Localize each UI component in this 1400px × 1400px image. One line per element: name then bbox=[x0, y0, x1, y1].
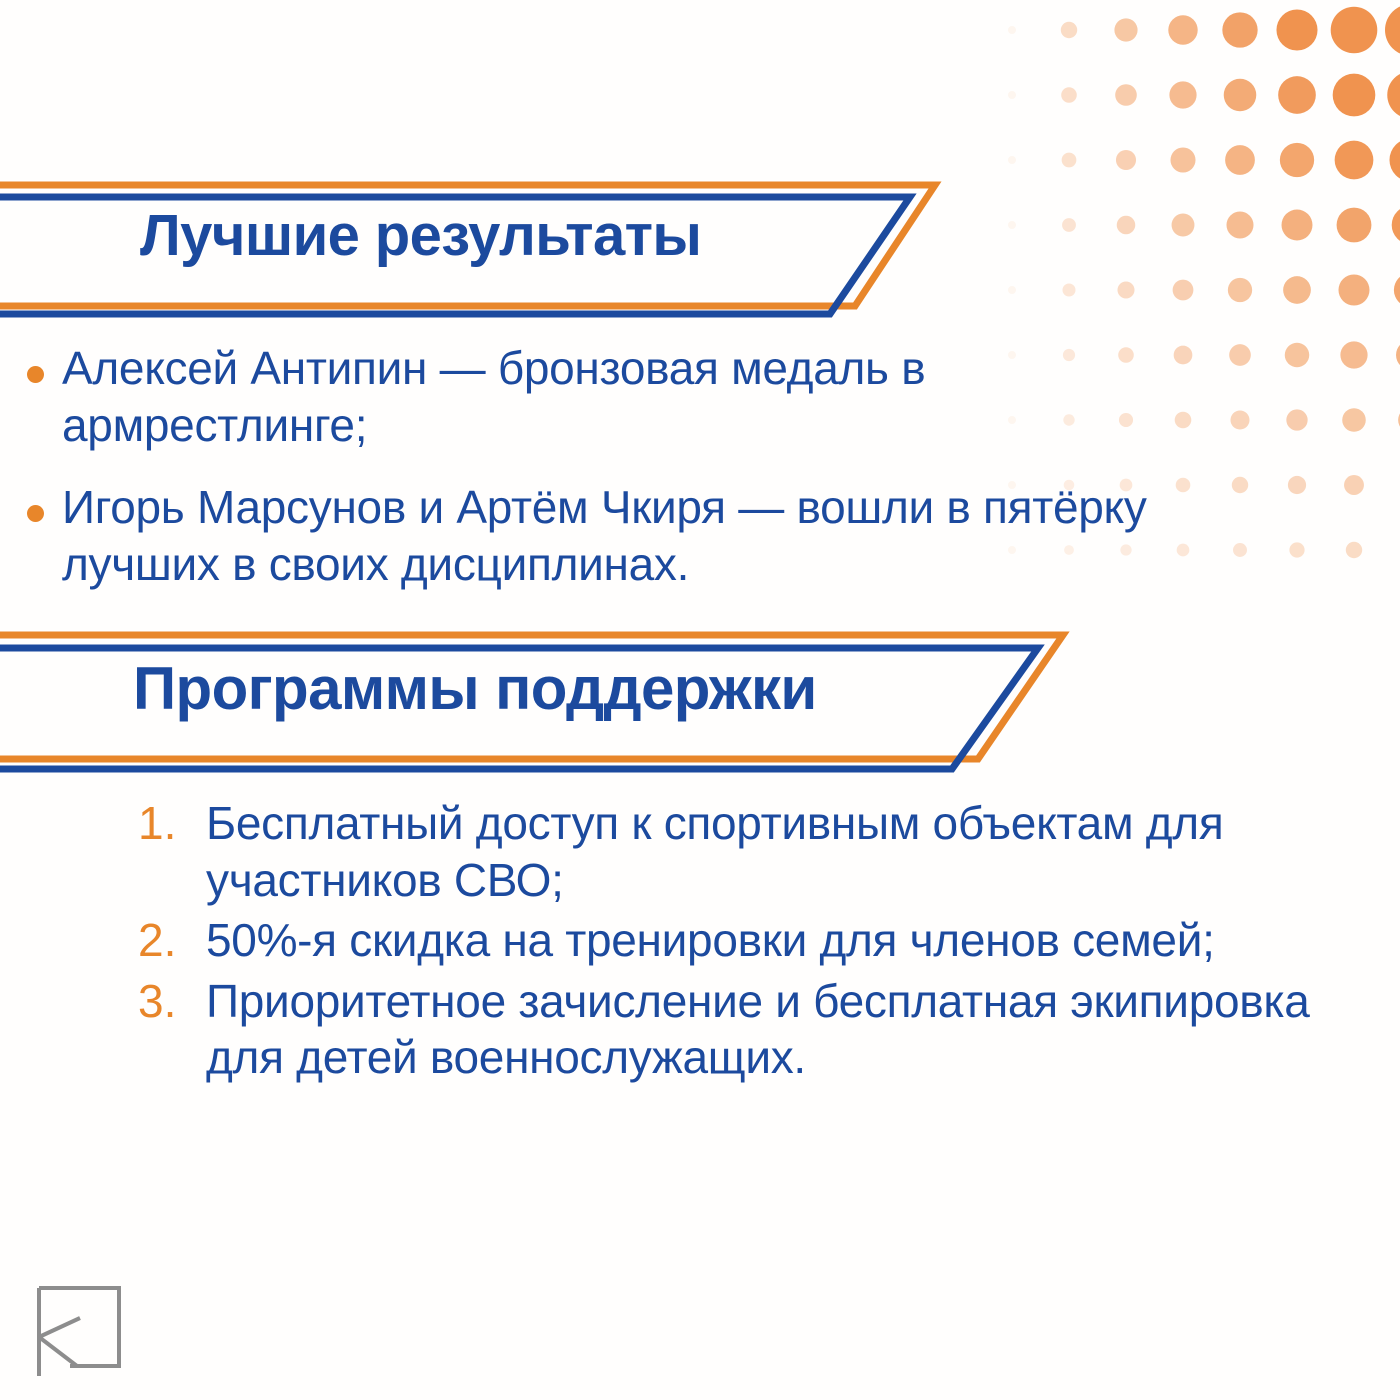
programs-list: 1. Бесплатный доступ к спортивным объект… bbox=[0, 795, 1330, 1090]
decorative-dot bbox=[1342, 408, 1366, 432]
list-item-number: 3. bbox=[0, 973, 206, 1030]
decorative-dot bbox=[1172, 214, 1195, 237]
decorative-dot bbox=[1062, 283, 1075, 296]
decorative-dot bbox=[1396, 340, 1400, 370]
bullet-marker bbox=[0, 340, 62, 383]
decorative-dot bbox=[1173, 280, 1194, 301]
logo-k-lower-arm bbox=[39, 1337, 77, 1366]
decorative-dot bbox=[1222, 12, 1257, 47]
decorative-dot bbox=[1225, 145, 1255, 175]
list-item-text: 50%-я скидка на тренировки для членов се… bbox=[206, 912, 1215, 969]
decorative-dot bbox=[1346, 542, 1362, 558]
list-item: 1. Бесплатный доступ к спортивным объект… bbox=[0, 795, 1330, 908]
decorative-dot bbox=[1061, 87, 1077, 103]
decorative-dot bbox=[1117, 216, 1136, 235]
decorative-dot bbox=[1392, 206, 1400, 245]
list-item: 2. 50%-я скидка на тренировки для членов… bbox=[0, 912, 1330, 969]
bullet-dot-icon bbox=[27, 505, 44, 522]
section-title-programs: Программы поддержки bbox=[133, 654, 817, 723]
list-item: Игорь Марсунов и Артём Чкиря — вошли в п… bbox=[0, 479, 1330, 592]
decorative-dot bbox=[1387, 71, 1400, 118]
banner-best-results: Лучшие результаты bbox=[0, 178, 960, 323]
list-item: Алексей Антипин — бронзовая медаль в арм… bbox=[0, 340, 1330, 453]
decorative-dot bbox=[1114, 18, 1137, 41]
list-item-text: Игорь Марсунов и Артём Чкиря — вошли в п… bbox=[62, 479, 1182, 592]
decorative-dot bbox=[1008, 26, 1016, 34]
logo-k-upper-arm bbox=[39, 1318, 80, 1337]
decorative-dot bbox=[1062, 218, 1076, 232]
decorative-dot bbox=[1169, 81, 1196, 108]
decorative-dot bbox=[1170, 147, 1195, 172]
decorative-dot bbox=[1061, 22, 1077, 38]
decorative-dot bbox=[1116, 150, 1136, 170]
decorative-dot bbox=[1333, 74, 1376, 117]
list-item-text: Приоритетное зачисление и бесплатная эки… bbox=[206, 973, 1330, 1086]
list-item-number: 1. bbox=[0, 795, 206, 852]
decorative-dot bbox=[1008, 156, 1016, 164]
decorative-dot bbox=[1117, 281, 1134, 298]
decorative-dot bbox=[1168, 15, 1197, 44]
k-square-logo bbox=[30, 1280, 130, 1380]
decorative-dot bbox=[1282, 210, 1313, 241]
bullet-dot-icon bbox=[27, 366, 44, 383]
decorative-dot bbox=[1278, 76, 1316, 114]
decorative-dot bbox=[1280, 143, 1314, 177]
list-item-text: Алексей Антипин — бронзовая медаль в арм… bbox=[62, 340, 1182, 453]
decorative-dot bbox=[1385, 4, 1400, 56]
decorative-dot bbox=[1115, 84, 1137, 106]
banner-support-programs: Программы поддержки bbox=[0, 628, 1090, 783]
bullet-marker bbox=[0, 479, 62, 522]
decorative-dot bbox=[1338, 274, 1369, 305]
decorative-dot bbox=[1344, 475, 1364, 495]
decorative-dot bbox=[1331, 7, 1378, 54]
decorative-dot bbox=[1335, 141, 1374, 180]
results-list: Алексей Антипин — бронзовая медаль в арм… bbox=[0, 340, 1330, 618]
decorative-dot bbox=[1062, 153, 1077, 168]
list-item: 3. Приоритетное зачисление и бесплатная … bbox=[0, 973, 1330, 1086]
list-item-number: 2. bbox=[0, 912, 206, 969]
decorative-dot bbox=[1228, 278, 1252, 302]
decorative-dot bbox=[1008, 91, 1016, 99]
section-title-results: Лучшие результаты bbox=[140, 202, 701, 269]
logo-square-outline bbox=[39, 1288, 119, 1366]
decorative-dot bbox=[1226, 211, 1253, 238]
decorative-dot bbox=[1008, 221, 1016, 229]
decorative-dot bbox=[1389, 138, 1400, 181]
decorative-dot bbox=[1276, 9, 1317, 50]
decorative-dot bbox=[1008, 286, 1016, 294]
list-item-text: Бесплатный доступ к спортивным объектам … bbox=[206, 795, 1330, 908]
decorative-dot bbox=[1283, 276, 1311, 304]
decorative-dot bbox=[1340, 341, 1367, 368]
decorative-dot bbox=[1224, 79, 1257, 112]
decorative-dot bbox=[1394, 273, 1400, 307]
decorative-dot bbox=[1337, 208, 1372, 243]
